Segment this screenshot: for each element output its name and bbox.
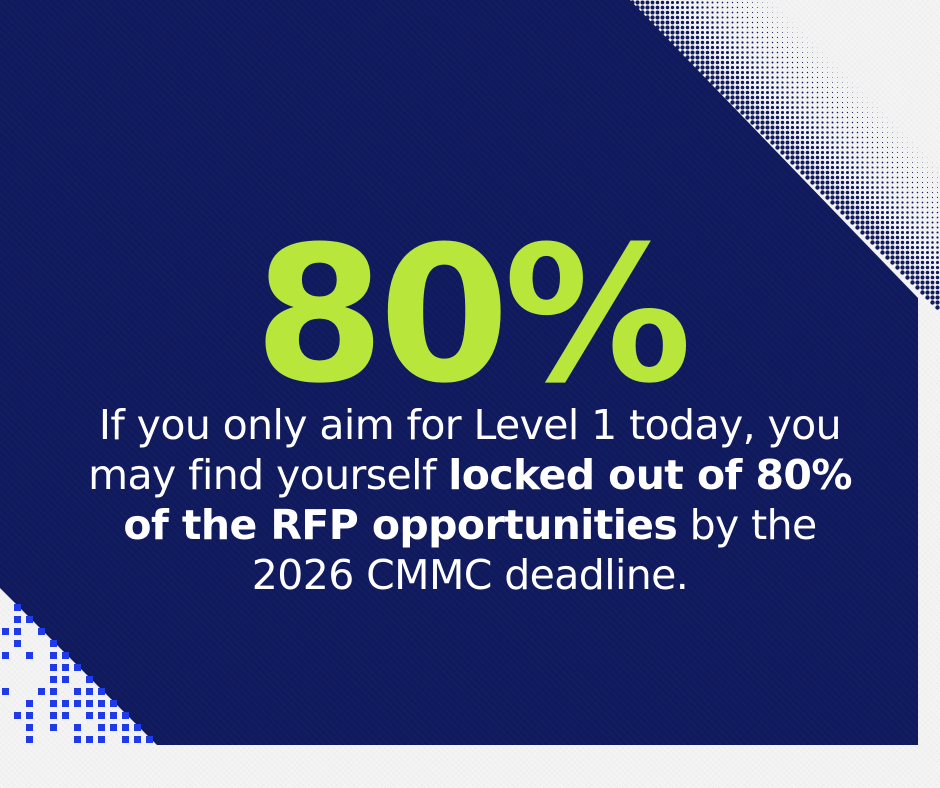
navy-angled-panel xyxy=(0,0,940,788)
navy-panel-texture xyxy=(0,0,940,788)
poster-canvas: 80% If you only aim for Level 1 today, y… xyxy=(0,0,940,788)
